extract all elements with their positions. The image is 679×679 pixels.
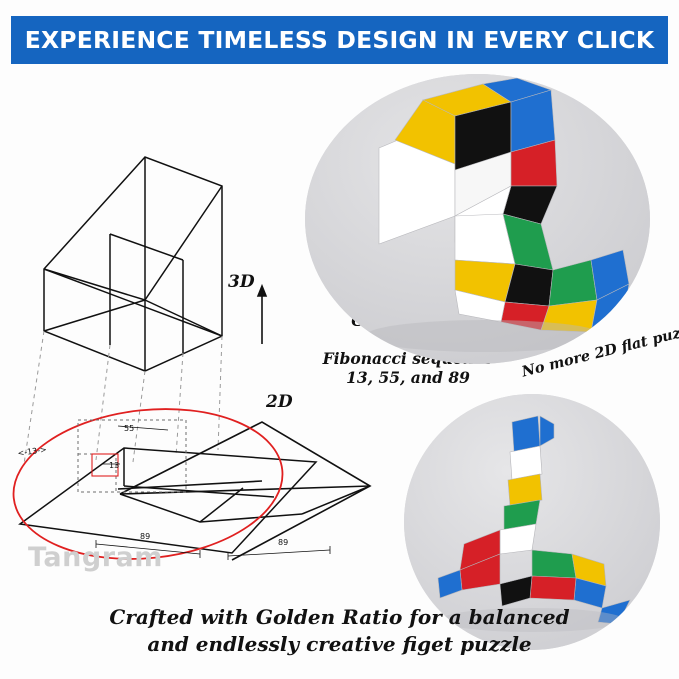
dim-label-55: 55	[124, 424, 134, 433]
dim-label-89-left: 89	[140, 532, 150, 541]
header-banner: EXPERIENCE TIMELESS DESIGN IN EVERY CLIC…	[11, 16, 668, 64]
bottom-caption-line1: Crafted with Golden Ratio for a balanced	[0, 604, 679, 631]
label-2d: 2D	[266, 392, 293, 412]
dim-label-89-right: 89	[278, 538, 288, 547]
header-title: EXPERIENCE TIMELESS DESIGN IN EVERY CLIC…	[25, 26, 655, 54]
dim-label-13: 13	[109, 461, 119, 470]
bottom-caption-line2: and endlessly creative figet puzzle	[0, 631, 679, 658]
dim-label-13-left: <-13->	[17, 445, 47, 458]
golden-caption-line4: 13, 55, and 89	[300, 369, 516, 388]
product-infographic: EXPERIENCE TIMELESS DESIGN IN EVERY CLIC…	[0, 0, 679, 679]
bottom-caption: Crafted with Golden Ratio for a balanced…	[0, 604, 679, 658]
3d-tangram-photo	[305, 74, 650, 364]
label-3d: 3D	[228, 272, 255, 292]
main-content: 13 55 89 89 <-13->	[0, 64, 679, 679]
tangram-watermark: Tangram	[28, 542, 163, 573]
